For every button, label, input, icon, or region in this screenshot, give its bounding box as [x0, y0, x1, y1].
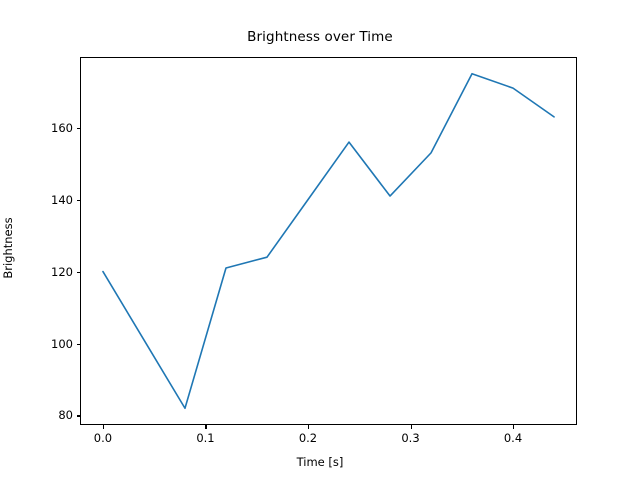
y-tick-mark	[77, 128, 81, 129]
chart-figure: Brightness over Time 80100120140160 0.00…	[0, 0, 640, 480]
y-tick-mark	[77, 272, 81, 273]
x-tick-mark	[513, 425, 514, 429]
y-tick-mark	[77, 415, 81, 416]
brightness-series-line	[103, 74, 554, 409]
line-chart-plot	[80, 57, 577, 425]
x-tick-mark	[411, 425, 412, 429]
x-tick-label: 0.3	[401, 431, 419, 445]
y-tick-label: 120	[51, 265, 73, 279]
x-tick-label: 0.4	[504, 431, 522, 445]
y-tick-mark	[77, 200, 81, 201]
x-tick-label: 0.1	[196, 431, 214, 445]
y-tick-label: 80	[58, 408, 73, 422]
x-tick-mark	[308, 425, 309, 429]
x-tick-mark	[103, 425, 104, 429]
y-tick-mark	[77, 344, 81, 345]
x-tick-mark	[205, 425, 206, 429]
chart-title: Brightness over Time	[0, 29, 640, 45]
y-axis-label: Brightness	[1, 168, 15, 328]
x-tick-label: 0.2	[299, 431, 317, 445]
x-tick-label: 0.0	[94, 431, 112, 445]
y-tick-label: 160	[51, 121, 73, 135]
x-axis-label: Time [s]	[0, 455, 640, 469]
y-tick-label: 140	[51, 193, 73, 207]
y-tick-label: 100	[51, 337, 73, 351]
